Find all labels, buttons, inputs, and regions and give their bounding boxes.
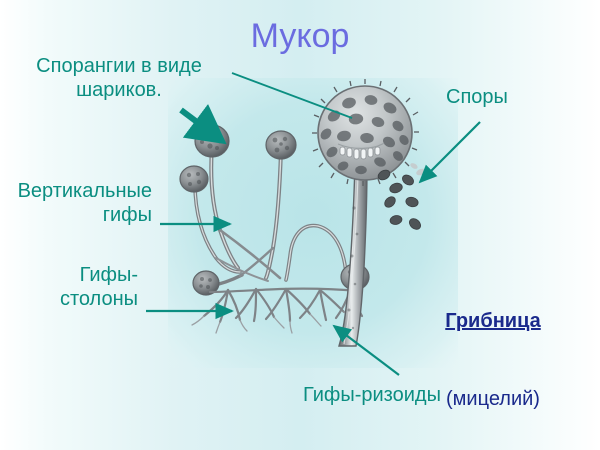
label-mycelium: Грибница (мицелий)	[393, 256, 593, 450]
label-sporangia: Спорангии в виде шариков.	[14, 54, 224, 102]
label-vertical-hyphae: Вертикальные гифы	[0, 179, 152, 227]
label-spores: Споры	[446, 85, 508, 109]
page-title: Мукор	[0, 16, 600, 56]
label-stolon-hyphae: Гифы- столоны	[0, 263, 138, 311]
label-mycelium-main: Грибница	[393, 308, 593, 334]
slide-canvas: Мукор	[0, 0, 600, 450]
label-mycelium-sub: (мицелий)	[393, 386, 593, 412]
